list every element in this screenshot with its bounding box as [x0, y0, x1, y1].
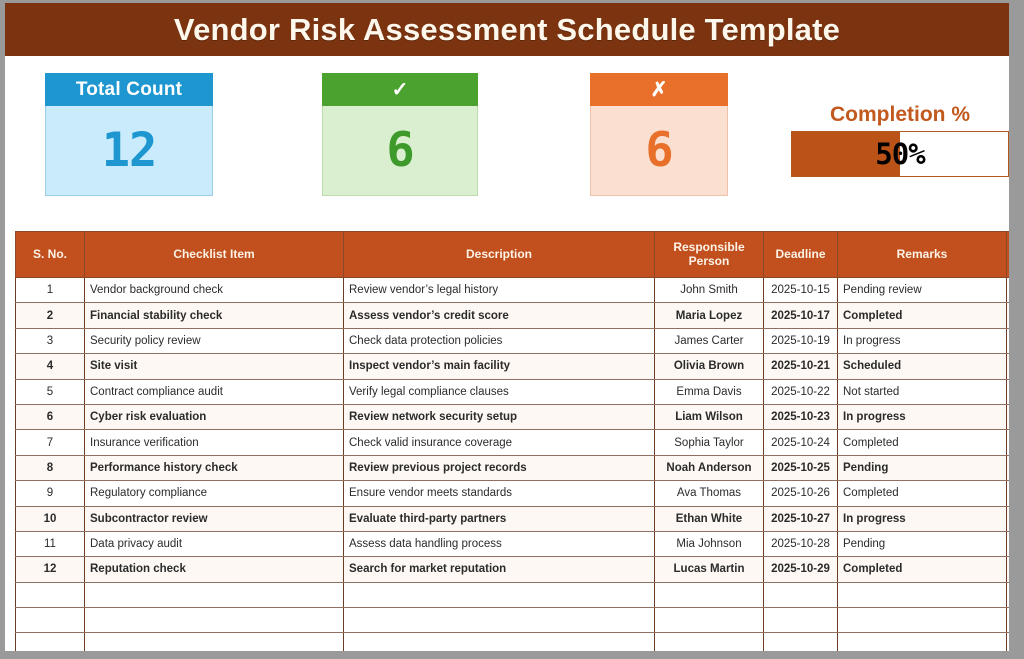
page-title-bar: Vendor Risk Assessment Schedule Template [5, 3, 1009, 56]
cell-sno[interactable]: 10 [16, 506, 85, 531]
cell-sno[interactable]: 2 [16, 303, 85, 328]
cell-deadline[interactable]: 2025-10-19 [764, 328, 838, 353]
cell-description[interactable]: Check valid insurance coverage [344, 430, 655, 455]
cell-responsible-person[interactable]: James Carter [655, 328, 764, 353]
col-header-deadline[interactable]: Deadline [764, 232, 838, 278]
cell-responsible-person[interactable] [655, 582, 764, 607]
cell-remarks[interactable]: In progress [838, 328, 1007, 353]
cell-deadline[interactable]: 2025-10-28 [764, 531, 838, 556]
cell-status[interactable]: ✗ [1007, 354, 1024, 379]
cell-status[interactable] [1007, 633, 1024, 658]
cell-description[interactable] [344, 608, 655, 633]
cell-checklist-item[interactable]: Cyber risk evaluation [85, 404, 344, 429]
cell-status[interactable]: ✓ [1007, 531, 1024, 556]
cell-checklist-item[interactable]: Reputation check [85, 557, 344, 582]
cell-deadline[interactable]: 2025-10-24 [764, 430, 838, 455]
table-row[interactable]: 7Insurance verificationCheck valid insur… [16, 430, 1024, 455]
cell-responsible-person[interactable]: Maria Lopez [655, 303, 764, 328]
kpi-completed-value: 6 [386, 123, 413, 178]
cell-remarks[interactable]: Pending [838, 455, 1007, 480]
table-row-empty[interactable] [16, 608, 1024, 633]
cell-description[interactable]: Check data protection policies [344, 328, 655, 353]
cell-description[interactable]: Verify legal compliance clauses [344, 379, 655, 404]
cell-checklist-item[interactable]: Site visit [85, 354, 344, 379]
cell-sno[interactable]: 5 [16, 379, 85, 404]
check-icon: ✓ [392, 80, 409, 100]
col-header-desc[interactable]: Description [344, 232, 655, 278]
cell-status[interactable]: ✓ [1007, 278, 1024, 303]
cell-deadline[interactable]: 2025-10-29 [764, 557, 838, 582]
cell-responsible-person[interactable]: Sophia Taylor [655, 430, 764, 455]
cell-status[interactable]: ✗ [1007, 506, 1024, 531]
completion-widget: Completion % 50% [791, 103, 1009, 177]
table-row[interactable]: 10Subcontractor reviewEvaluate third-par… [16, 506, 1024, 531]
cell-sno[interactable]: 4 [16, 354, 85, 379]
cell-responsible-person[interactable]: Lucas Martin [655, 557, 764, 582]
kpi-card-pending-count: ✗ 6 [590, 73, 728, 196]
cell-checklist-item[interactable]: Regulatory compliance [85, 481, 344, 506]
cell-checklist-item[interactable]: Performance history check [85, 455, 344, 480]
cell-status[interactable]: ✓ [1007, 379, 1024, 404]
cross-icon: ✗ [651, 80, 668, 100]
cell-sno[interactable]: 12 [16, 557, 85, 582]
kpi-pending-body: 6 [590, 106, 728, 196]
col-header-remarks[interactable]: Remarks [838, 232, 1007, 278]
cell-description[interactable]: Inspect vendor’s main facility [344, 354, 655, 379]
cell-responsible-person[interactable]: Liam Wilson [655, 404, 764, 429]
cell-sno[interactable]: 8 [16, 455, 85, 480]
cell-status[interactable] [1007, 582, 1024, 607]
cell-status[interactable]: ✗ [1007, 455, 1024, 480]
cell-remarks[interactable]: Pending review [838, 278, 1007, 303]
cell-remarks[interactable] [838, 582, 1007, 607]
completion-percent-value: 50% [792, 132, 1008, 176]
cell-responsible-person[interactable]: Emma Davis [655, 379, 764, 404]
cell-status[interactable]: ✗ [1007, 303, 1024, 328]
completion-progress-bar: 50% [791, 131, 1009, 177]
kpi-pending-value: 6 [645, 123, 672, 178]
cell-sno[interactable]: 6 [16, 404, 85, 429]
cell-remarks[interactable]: Completed [838, 303, 1007, 328]
cell-description[interactable]: Review vendor’s legal history [344, 278, 655, 303]
cell-remarks[interactable]: Completed [838, 430, 1007, 455]
table-row[interactable]: 4Site visitInspect vendor’s main facilit… [16, 354, 1024, 379]
kpi-card-total-count: Total Count 12 [45, 73, 213, 196]
cell-remarks[interactable]: In progress [838, 404, 1007, 429]
cell-description[interactable]: Assess vendor’s credit score [344, 303, 655, 328]
cell-sno[interactable]: 7 [16, 430, 85, 455]
cell-responsible-person[interactable]: Mia Johnson [655, 531, 764, 556]
cell-remarks[interactable]: In progress [838, 506, 1007, 531]
table-row-empty[interactable] [16, 582, 1024, 607]
kpi-card-completed-count: ✓ 6 [322, 73, 478, 196]
cell-deadline[interactable] [764, 582, 838, 607]
cell-responsible-person[interactable]: Noah Anderson [655, 455, 764, 480]
cell-responsible-person[interactable] [655, 608, 764, 633]
cell-checklist-item[interactable]: Contract compliance audit [85, 379, 344, 404]
cell-description[interactable]: Evaluate third-party partners [344, 506, 655, 531]
table-row[interactable]: 9Regulatory complianceEnsure vendor meet… [16, 481, 1024, 506]
cell-responsible-person[interactable]: John Smith [655, 278, 764, 303]
cell-remarks[interactable]: Not started [838, 379, 1007, 404]
cell-checklist-item[interactable]: Vendor background check [85, 278, 344, 303]
sheet-canvas: Vendor Risk Assessment Schedule Template… [5, 3, 1009, 651]
cell-sno[interactable]: 3 [16, 328, 85, 353]
page-title: Vendor Risk Assessment Schedule Template [174, 12, 840, 48]
table-body: 1Vendor background checkReview vendor’s … [16, 278, 1024, 659]
cell-remarks[interactable]: Pending [838, 531, 1007, 556]
cell-responsible-person[interactable]: Ethan White [655, 506, 764, 531]
table-row[interactable]: 1Vendor background checkReview vendor’s … [16, 278, 1024, 303]
col-header-status[interactable]: Status [1007, 232, 1024, 278]
col-header-sno[interactable]: S. No. [16, 232, 85, 278]
cell-checklist-item[interactable]: Data privacy audit [85, 531, 344, 556]
cell-deadline[interactable]: 2025-10-15 [764, 278, 838, 303]
table-row[interactable]: 11Data privacy auditAssess data handling… [16, 531, 1024, 556]
cell-remarks[interactable] [838, 608, 1007, 633]
cell-checklist-item[interactable] [85, 608, 344, 633]
kpi-pending-header: ✗ [590, 73, 728, 106]
cell-description[interactable]: Review previous project records [344, 455, 655, 480]
cell-sno[interactable] [16, 608, 85, 633]
table-header-row: S. No. Checklist Item Description Respon… [16, 232, 1024, 278]
cell-deadline[interactable]: 2025-10-23 [764, 404, 838, 429]
kpi-total-count-label: Total Count [76, 79, 182, 101]
cell-checklist-item[interactable]: Insurance verification [85, 430, 344, 455]
table-row[interactable]: 8Performance history checkReview previou… [16, 455, 1024, 480]
cell-remarks[interactable]: Completed [838, 557, 1007, 582]
cell-deadline[interactable]: 2025-10-21 [764, 354, 838, 379]
cell-checklist-item[interactable] [85, 582, 344, 607]
cell-deadline[interactable]: 2025-10-26 [764, 481, 838, 506]
cell-status[interactable] [1007, 608, 1024, 633]
cell-remarks[interactable]: Scheduled [838, 354, 1007, 379]
col-header-item[interactable]: Checklist Item [85, 232, 344, 278]
cell-responsible-person[interactable] [655, 633, 764, 658]
cell-remarks[interactable] [838, 633, 1007, 658]
table-row-empty[interactable] [16, 633, 1024, 658]
table-header: S. No. Checklist Item Description Respon… [16, 232, 1024, 278]
cell-checklist-item[interactable] [85, 633, 344, 658]
table-row[interactable]: 5Contract compliance auditVerify legal c… [16, 379, 1024, 404]
cell-status[interactable]: ✓ [1007, 481, 1024, 506]
cell-responsible-person[interactable]: Olivia Brown [655, 354, 764, 379]
kpi-total-count-body: 12 [45, 106, 213, 196]
cell-deadline[interactable] [764, 633, 838, 658]
cell-deadline[interactable]: 2025-10-22 [764, 379, 838, 404]
cell-sno[interactable]: 1 [16, 278, 85, 303]
kpi-completed-header: ✓ [322, 73, 478, 106]
cell-deadline[interactable]: 2025-10-17 [764, 303, 838, 328]
cell-description[interactable] [344, 633, 655, 658]
cell-description[interactable]: Ensure vendor meets standards [344, 481, 655, 506]
cell-checklist-item[interactable]: Security policy review [85, 328, 344, 353]
table-row[interactable]: 6Cyber risk evaluationReview network sec… [16, 404, 1024, 429]
table-row[interactable]: 2Financial stability checkAssess vendor’… [16, 303, 1024, 328]
cell-status[interactable]: ✓ [1007, 328, 1024, 353]
completion-label: Completion % [791, 103, 1009, 127]
table-row[interactable]: 12Reputation checkSearch for market repu… [16, 557, 1024, 582]
cell-deadline[interactable]: 2025-10-27 [764, 506, 838, 531]
cell-status[interactable]: ✗ [1007, 557, 1024, 582]
checklist-table: S. No. Checklist Item Description Respon… [15, 231, 1024, 659]
spreadsheet-page: Vendor Risk Assessment Schedule Template… [0, 0, 1024, 659]
cell-sno[interactable]: 9 [16, 481, 85, 506]
cell-description[interactable] [344, 582, 655, 607]
cell-responsible-person[interactable]: Ava Thomas [655, 481, 764, 506]
cell-checklist-item[interactable]: Subcontractor review [85, 506, 344, 531]
cell-status[interactable]: ✓ [1007, 430, 1024, 455]
cell-description[interactable]: Assess data handling process [344, 531, 655, 556]
cell-description[interactable]: Search for market reputation [344, 557, 655, 582]
cell-sno[interactable]: 11 [16, 531, 85, 556]
cell-checklist-item[interactable]: Financial stability check [85, 303, 344, 328]
kpi-total-count-value: 12 [102, 123, 157, 178]
cell-deadline[interactable] [764, 608, 838, 633]
cell-deadline[interactable]: 2025-10-25 [764, 455, 838, 480]
cell-description[interactable]: Review network security setup [344, 404, 655, 429]
kpi-completed-body: 6 [322, 106, 478, 196]
cell-sno[interactable] [16, 582, 85, 607]
col-header-person[interactable]: Responsible Person [655, 232, 764, 278]
table-row[interactable]: 3Security policy reviewCheck data protec… [16, 328, 1024, 353]
cell-sno[interactable] [16, 633, 85, 658]
kpi-total-count-header: Total Count [45, 73, 213, 106]
cell-status[interactable]: ✗ [1007, 404, 1024, 429]
cell-remarks[interactable]: Completed [838, 481, 1007, 506]
